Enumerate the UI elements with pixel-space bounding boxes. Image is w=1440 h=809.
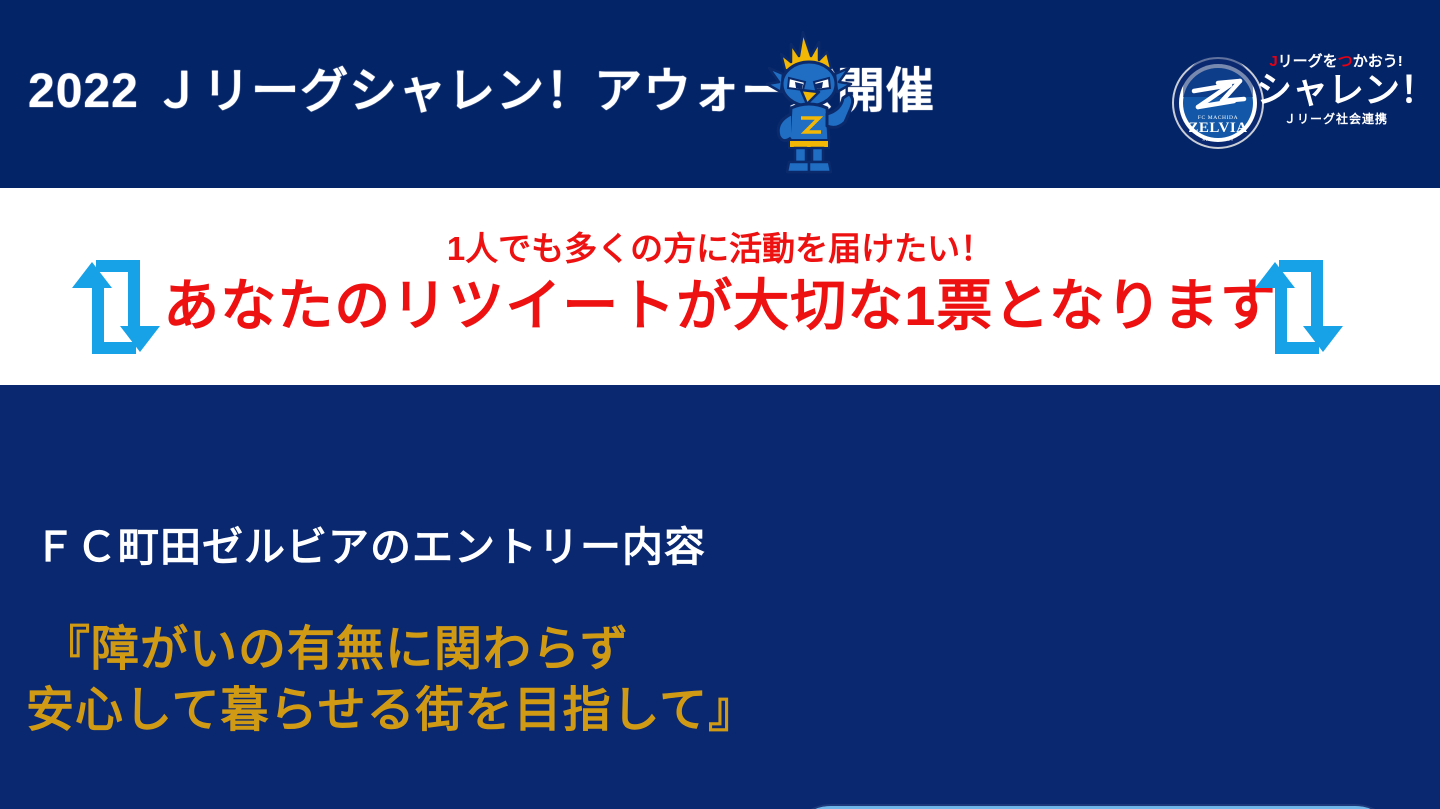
- retweet-callout-band: 1人でも多くの方に活動を届けたい！ あなたのリツイートが大切な1票となります: [0, 188, 1440, 385]
- header-band: 2022 Ｊリーグシャレン！アウォーズ開催: [0, 0, 1440, 188]
- callout-line-2: あなたのリツイートが大切な1票となります: [0, 278, 1440, 334]
- sharen-tagline-post: かおう!: [1353, 53, 1403, 70]
- zelvy-mascot-icon: [757, 26, 861, 180]
- retweet-icon: [1245, 258, 1353, 356]
- sharen-tagline: Jリーグをつかおう!: [1256, 54, 1416, 69]
- entry-heading: ＦＣ町田ゼルビアのエントリー内容: [34, 527, 706, 568]
- entry-quote-line-2: 安心して暮らせる街を目指して』: [26, 680, 766, 741]
- sharen-tagline-mid: リーグを: [1278, 53, 1338, 70]
- sharen-tagline-accent: つ: [1338, 53, 1353, 70]
- sharen-logo: Jリーグをつかおう! シャレン！ Ｊリーグ社会連携: [1256, 54, 1416, 146]
- poster-root: 2022 Ｊリーグシャレン！アウォーズ開催: [0, 0, 1440, 809]
- svg-text:ZELVIA: ZELVIA: [1188, 120, 1247, 136]
- sharen-tagline-j: J: [1269, 53, 1277, 70]
- fc-machida-zelvia-crest-icon: FC MACHIDA ZELVIA SINCE 1989: [1172, 57, 1264, 149]
- sharen-subtitle: Ｊリーグ社会連携: [1256, 113, 1416, 125]
- sharen-wordmark: シャレン！: [1256, 72, 1416, 108]
- entry-quote: 『障がいの有無に関わらず 安心して暮らせる街を目指して』: [26, 619, 766, 742]
- entry-quote-line-1: 『障がいの有無に関わらず: [26, 619, 766, 680]
- svg-text:SINCE 1989: SINCE 1989: [1202, 137, 1233, 142]
- callout-line-1: 1人でも多くの方に活動を届けたい！: [0, 232, 1440, 265]
- entry-band: ＦＣ町田ゼルビアのエントリー内容 『障がいの有無に関わらず 安心して暮らせる街を…: [0, 385, 1440, 809]
